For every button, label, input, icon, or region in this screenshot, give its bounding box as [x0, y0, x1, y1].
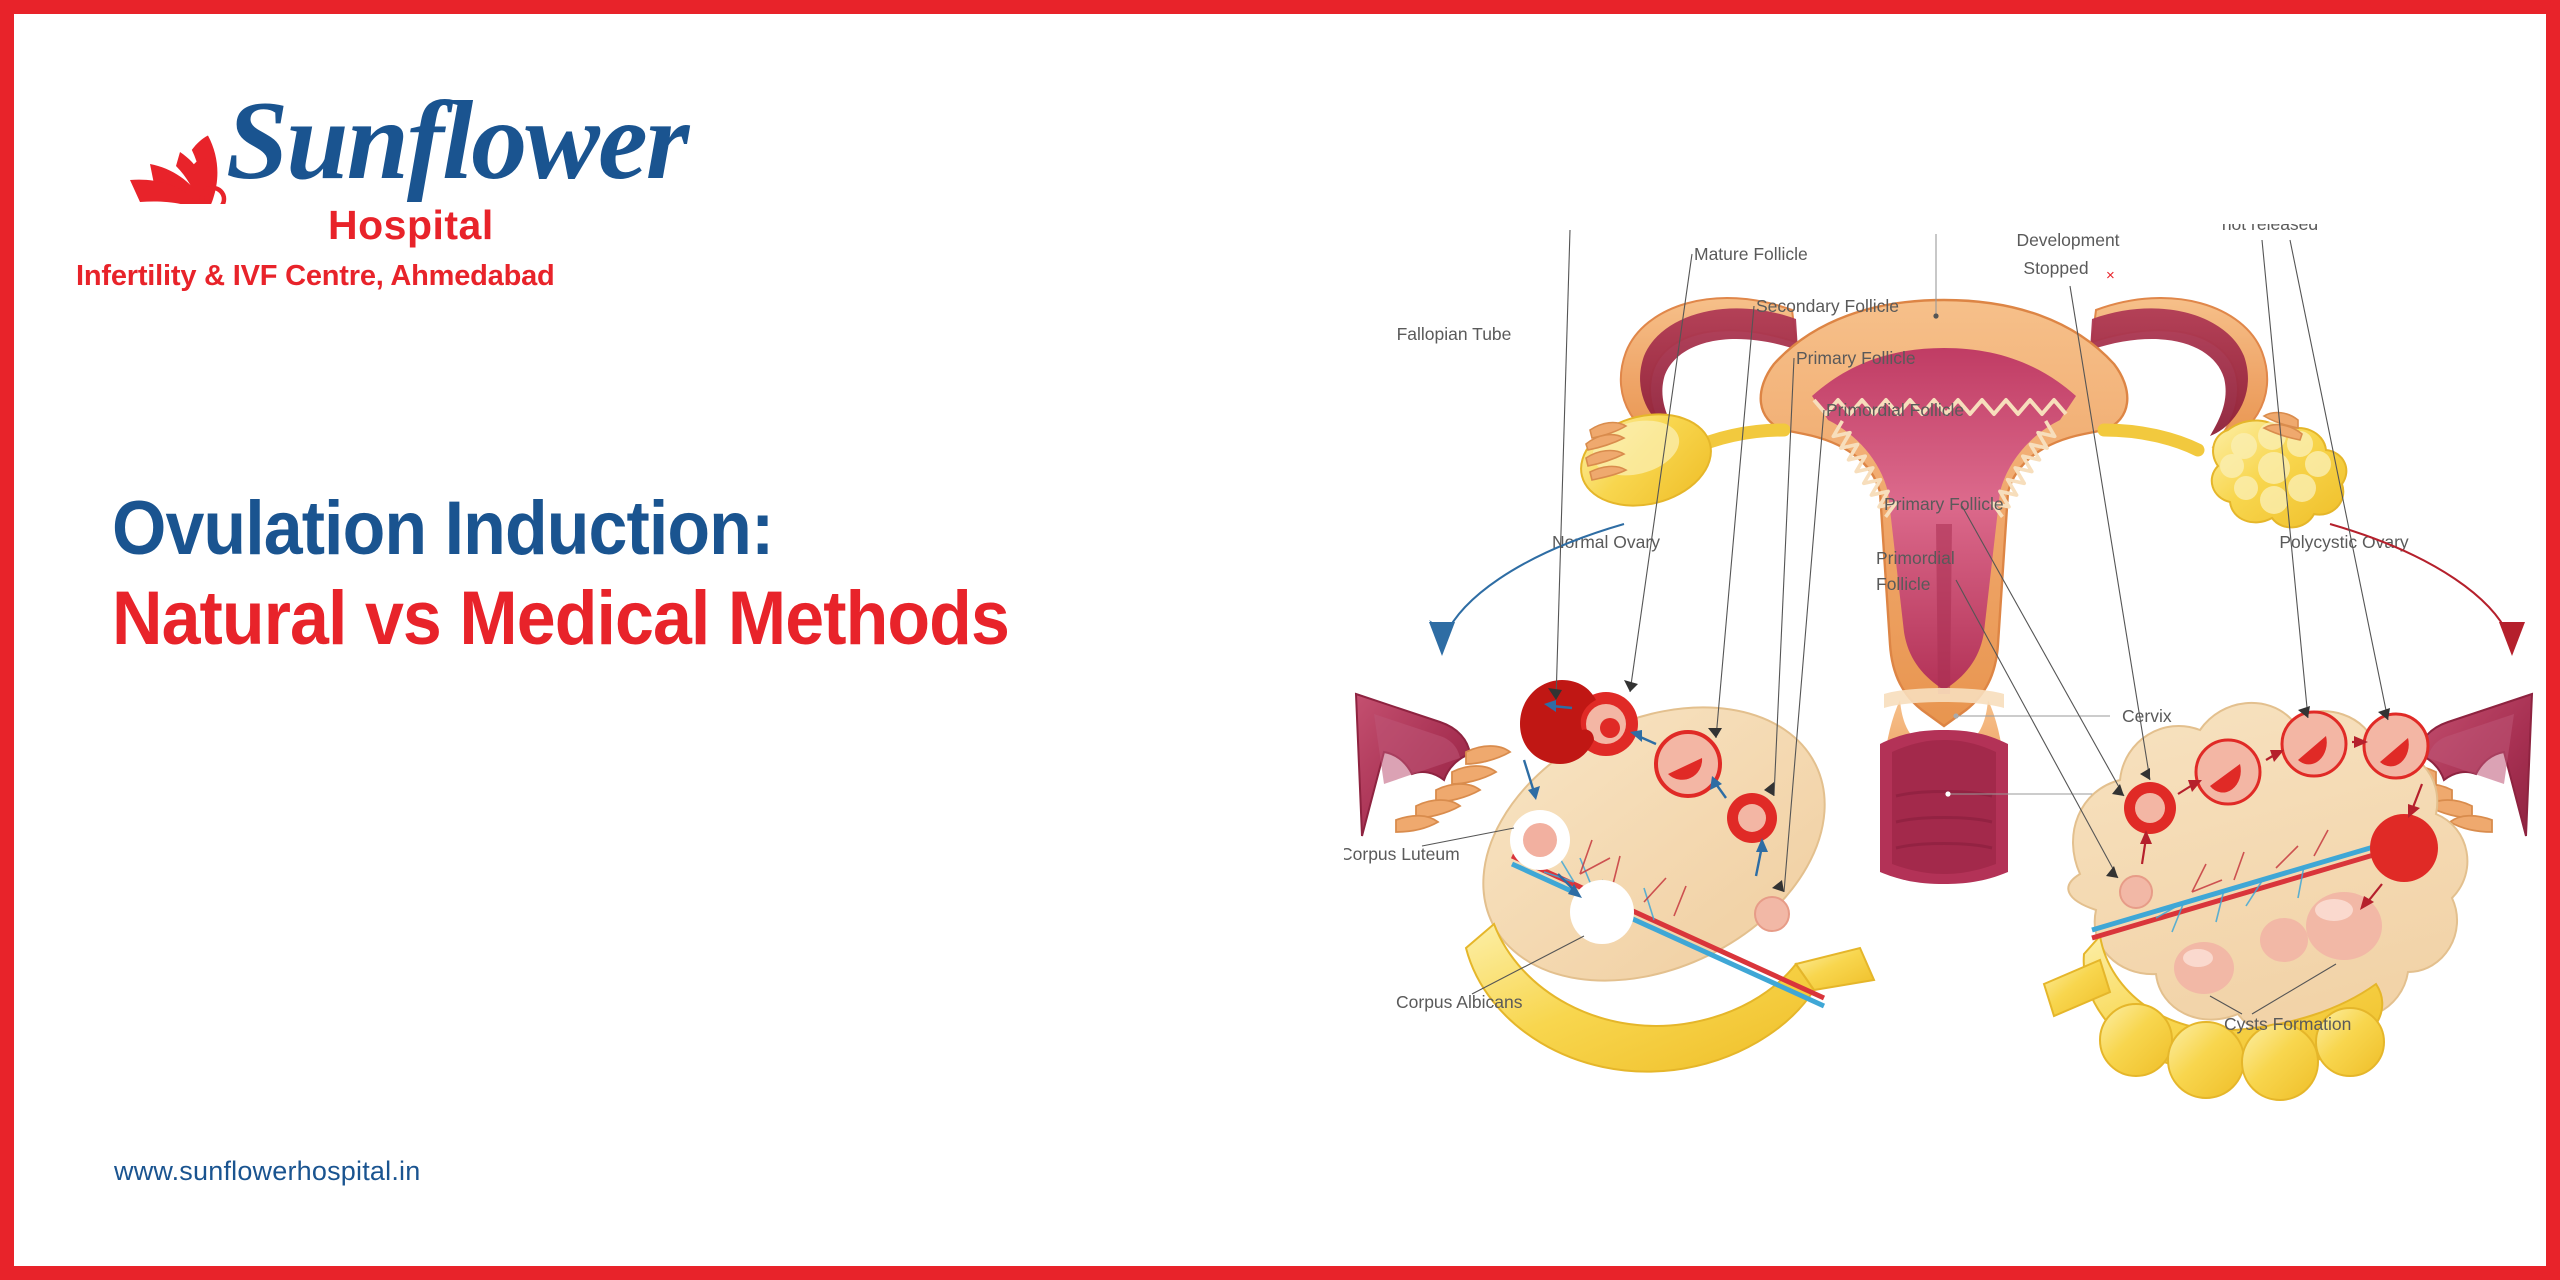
flame-icon: [130, 135, 225, 204]
brand-wordmark: Sunflower: [226, 79, 691, 203]
page-title: Ovulation Induction: Natural vs Medical …: [112, 484, 1312, 663]
svg-text:Corpus Luteum: Corpus Luteum: [1344, 844, 1460, 864]
headline-line-2: Natural vs Medical Methods: [112, 574, 1216, 664]
normal-ovary-small: [1571, 401, 1720, 518]
sunflower-logo-mark: Sunflower: [100, 74, 700, 204]
svg-text:Primary Follicle: Primary Follicle: [1884, 494, 2004, 514]
corpus-luteum: [1523, 823, 1557, 857]
reproductive-anatomy-diagram: Fundus of Uterus Fallopian Tube Cervix V…: [1344, 224, 2544, 1104]
svg-text:Cysts Formation: Cysts Formation: [2224, 1014, 2351, 1034]
svg-text:Stopped: Stopped: [2023, 258, 2088, 278]
svg-text:not released: not released: [2222, 224, 2318, 234]
brand-tagline: Infertility & IVF Centre, Ahmedabad: [76, 260, 555, 293]
svg-text:Mature Follicle: Mature Follicle: [1694, 244, 1808, 264]
brand-logo: Sunflower Hospital Infertility & IVF Cen…: [100, 74, 720, 274]
secondary-follicle: [1656, 732, 1720, 796]
website-url[interactable]: www.sunflowerhospital.in: [114, 1156, 420, 1187]
svg-text:×: ×: [2106, 267, 2115, 284]
headline-line-1: Ovulation Induction:: [112, 484, 1216, 574]
svg-text:Primordial: Primordial: [1876, 548, 1955, 568]
uterus-label-polycystic-ovary: Polycystic Ovary: [2279, 532, 2409, 552]
svg-text:Secondary Follicle: Secondary Follicle: [1756, 296, 1899, 316]
svg-text:Primordial Follicle: Primordial Follicle: [1826, 400, 1964, 420]
pco-unreleased-egg: [2370, 814, 2438, 882]
svg-text:Development: Development: [2016, 230, 2119, 250]
primordial-follicle: [1755, 897, 1789, 931]
svg-text:Corpus Albicans: Corpus Albicans: [1396, 992, 1523, 1012]
brand-sub: Hospital: [328, 202, 494, 249]
svg-text:Primary Follicle: Primary Follicle: [1796, 348, 1916, 368]
pco-arrested-follicle-1: [2196, 740, 2260, 804]
pco-primordial-follicle: [2120, 876, 2152, 908]
svg-text:Cervix: Cervix: [2122, 706, 2172, 726]
banner-frame: Sunflower Hospital Infertility & IVF Cen…: [0, 0, 2560, 1280]
polycystic-ovary-small: [2212, 413, 2347, 528]
pco-arrested-follicle-3: [2364, 714, 2428, 778]
uterus-label-fallopian: Fallopian Tube: [1397, 324, 1512, 344]
svg-text:Follicle: Follicle: [1876, 574, 1930, 594]
pco-arrested-follicle-2: [2282, 712, 2346, 776]
corpus-albicans: [1570, 880, 1634, 944]
